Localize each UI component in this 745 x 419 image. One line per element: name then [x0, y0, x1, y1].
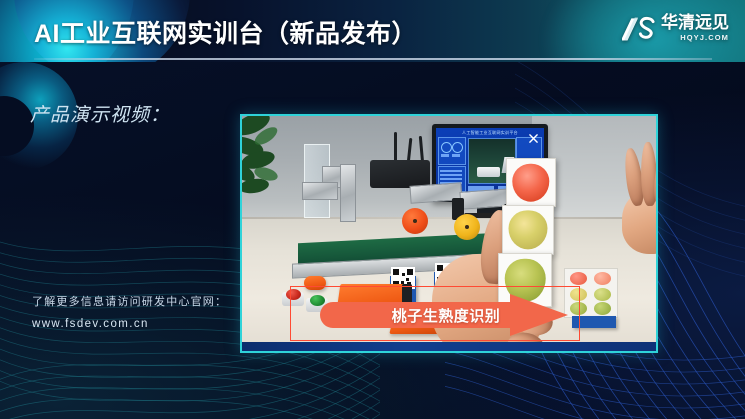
hmi-list-3: [440, 178, 462, 180]
brand-text: 华清远见 HQYJ.COM: [661, 14, 729, 42]
peach-card-ripe: [506, 158, 556, 207]
hqyj-18-logo-icon: [622, 14, 658, 44]
page-title: AI工业互联网实训台（新品发布）: [34, 14, 417, 50]
video-bottom-strip: [242, 342, 656, 351]
gantry-arm: [302, 182, 338, 200]
hand-right-background: [610, 140, 658, 250]
arrow-label: 桃子生熟度识别: [356, 305, 536, 326]
hmi-list-2: [440, 174, 462, 176]
brand-logo: 华清远见 HQYJ.COM: [622, 14, 729, 44]
header-divider: [34, 58, 712, 60]
close-x-icon[interactable]: [529, 134, 538, 143]
slide-root: AI工业互联网实训台（新品发布） 华清远见 HQYJ.COM 产品演示视频： 了…: [0, 0, 745, 419]
brand-name-en: HQYJ.COM: [661, 34, 729, 42]
hmi-list-1: [440, 170, 462, 172]
control-box: [370, 160, 430, 188]
sample-red: [570, 272, 587, 285]
hmi-bar-b: [452, 154, 460, 157]
contact-line: 了解更多信息请访问研发中心官网：: [32, 293, 227, 309]
annotation-arrow: 桃子生熟度识别: [320, 294, 588, 336]
peach-card-medium: [502, 205, 554, 255]
brand-name-cn: 华清远见: [661, 15, 729, 32]
hmi-object-primary: [477, 167, 501, 177]
hmi-title: 人工智能工业互联网实训平台: [462, 130, 518, 136]
peach-image-ripe: [512, 163, 549, 202]
sample-pink: [594, 272, 611, 285]
hmi-bar-a: [441, 154, 449, 157]
product-demo-video[interactable]: 人工智能工业互联网实训平台: [240, 114, 658, 353]
sample-olive: [594, 288, 611, 301]
section-label: 产品演示视频：: [30, 100, 170, 127]
plant-icon: [240, 114, 302, 200]
contact-url[interactable]: www.fsdev.com.cn: [32, 318, 149, 330]
peach-image-medium: [509, 210, 548, 249]
hmi-dial-a: [441, 142, 452, 153]
hmi-dial-b: [452, 142, 463, 153]
sample-green-2: [594, 302, 611, 315]
gantry-post: [340, 164, 356, 222]
